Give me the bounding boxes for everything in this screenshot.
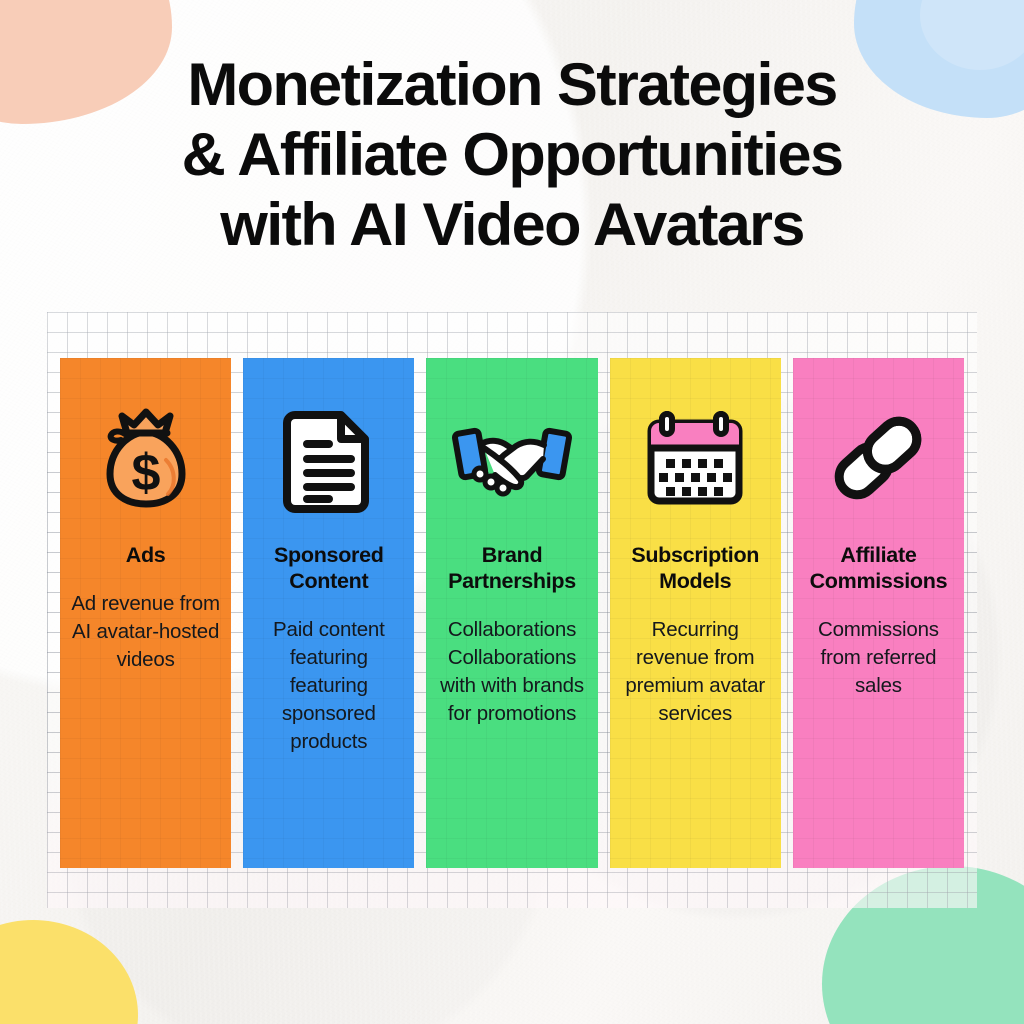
money-bag-icon: $ [92,404,200,512]
strategy-column-ads[interactable]: $ Ads Ad revenue from AI avatar-hosted v… [60,358,231,868]
calendar-icon [641,404,749,512]
strategy-column-sponsored-content[interactable]: Sponsored Content Paid content featuring… [243,358,414,868]
column-heading: Sponsored Content [251,542,406,594]
column-heading: Brand Partnerships [434,542,589,594]
page-title: Monetization Strategies & Affiliate Oppo… [0,50,1024,260]
column-description: Paid content featuring featuring sponsor… [251,616,406,756]
title-line-3: with AI Video Avatars [0,190,1024,260]
strategy-columns: $ Ads Ad revenue from AI avatar-hosted v… [60,358,964,868]
title-line-2: & Affiliate Opportunities [0,120,1024,190]
column-description: Collaborations Collaborations with with … [434,616,589,728]
infographic-poster: Monetization Strategies & Affiliate Oppo… [0,0,1024,1024]
blob-bottom-left [0,920,138,1024]
strategy-column-brand-partnerships[interactable]: Brand Partnerships Collaborations Collab… [426,358,597,868]
column-heading: Affiliate Commissions [801,542,956,594]
svg-text:$: $ [131,444,160,502]
document-icon [275,404,383,512]
chain-link-icon [824,404,932,512]
strategy-column-affiliate-commissions[interactable]: Affiliate Commissions Commissions from r… [793,358,964,868]
column-heading: Ads [126,542,166,568]
strategy-column-subscription-models[interactable]: Subscription Models Recurring revenue fr… [610,358,781,868]
column-heading: Subscription Models [618,542,773,594]
column-description: Ad revenue from AI avatar-hosted videos [68,590,223,674]
column-description: Recurring revenue from premium avatar se… [618,616,773,728]
title-line-1: Monetization Strategies [0,50,1024,120]
handshake-icon [458,404,566,512]
column-description: Commissions from referred sales [801,616,956,700]
